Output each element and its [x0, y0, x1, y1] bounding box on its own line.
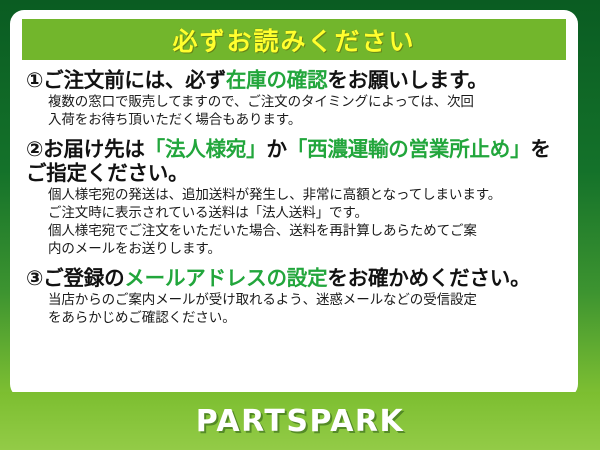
notice-item-1-body: 複数の窓口で販売してますので、ご注文のタイミングによっては、次回 入荷をお待ち頂…: [26, 94, 562, 130]
item-3-body-line-2: をあらかじめご確認ください。: [48, 310, 562, 328]
item-marker-3: ③: [26, 266, 43, 290]
item-1-heading-post: をお願いします。: [327, 68, 487, 92]
notice-title: 必ずお読みください: [172, 22, 415, 58]
item-1-body-line-1: 複数の窓口で販売してますので、ご注文のタイミングによっては、次回: [48, 94, 562, 112]
item-2-heading-highlight: 「法人様宛」: [145, 137, 267, 161]
item-marker-1: ①: [26, 68, 43, 92]
item-2-body-line-3: 個人様宅宛でご注文をいただいた場合、送料を再計算しあらためてご案: [48, 223, 562, 241]
item-marker-2: ②: [26, 137, 43, 161]
notice-items-list: ①ご注文前には、必ず在庫の確認をお願いします。 複数の窓口で販売してますので、ご…: [20, 68, 568, 328]
notice-item-1-heading: ①ご注文前には、必ず在庫の確認をお願いします。: [26, 68, 562, 92]
item-2-heading-mid: か: [266, 137, 286, 161]
footer-band: PARTSPARK: [0, 392, 600, 450]
item-3-heading-post: をお確かめください。: [327, 266, 530, 290]
item-3-heading-pre: ご登録の: [43, 266, 124, 290]
item-2-body-line-2: ご注文時に表示されている送料は「法人送料」です。: [48, 205, 562, 223]
notice-item-3-heading: ③ご登録のメールアドレスの設定をお確かめください。: [26, 266, 562, 290]
item-2-body-line-1: 個人様宅宛の発送は、追加送料が発生し、非常に高額となってしまいます。: [48, 187, 562, 205]
notice-item-3-body: 当店からのご案内メールが受け取れるよう、迷惑メールなどの受信設定 をあらかじめご…: [26, 292, 562, 328]
item-1-heading-highlight: 在庫の確認: [226, 68, 328, 92]
notice-item-2-body: 個人様宅宛の発送は、追加送料が発生し、非常に高額となってしまいます。 ご注文時に…: [26, 187, 562, 259]
item-3-body-line-1: 当店からのご案内メールが受け取れるよう、迷惑メールなどの受信設定: [48, 292, 562, 310]
notice-item-3: ③ご登録のメールアドレスの設定をお確かめください。 当店からのご案内メールが受け…: [26, 266, 562, 328]
notice-item-1: ①ご注文前には、必ず在庫の確認をお願いします。 複数の窓口で販売してますので、ご…: [26, 68, 562, 130]
title-banner: 必ずお読みください: [22, 19, 566, 60]
notice-item-2: ②お届け先は「法人様宛」か「西濃運輸の営業所止め」をご指定ください。 個人様宅宛…: [26, 137, 562, 259]
notice-frame: 必ずお読みください ①ご注文前には、必ず在庫の確認をお願いします。 複数の窓口で…: [0, 0, 600, 450]
item-1-body-line-2: 入荷をお待ち頂いただく場合もあります。: [48, 112, 562, 130]
item-3-heading-highlight: メールアドレスの設定: [124, 266, 327, 290]
notice-card: 必ずお読みください ①ご注文前には、必ず在庫の確認をお願いします。 複数の窓口で…: [10, 10, 578, 398]
brand-logo: PARTSPARK: [196, 404, 405, 439]
item-2-body-line-4: 内のメールをお送りします。: [48, 241, 562, 259]
item-2-heading-pre: お届け先は: [43, 137, 145, 161]
item-2-heading-highlight-2: 「西濃運輸の営業所止め」: [287, 137, 531, 161]
notice-item-2-heading: ②お届け先は「法人様宛」か「西濃運輸の営業所止め」をご指定ください。: [26, 137, 562, 185]
item-1-heading-pre: ご注文前には、必ず: [43, 68, 226, 92]
